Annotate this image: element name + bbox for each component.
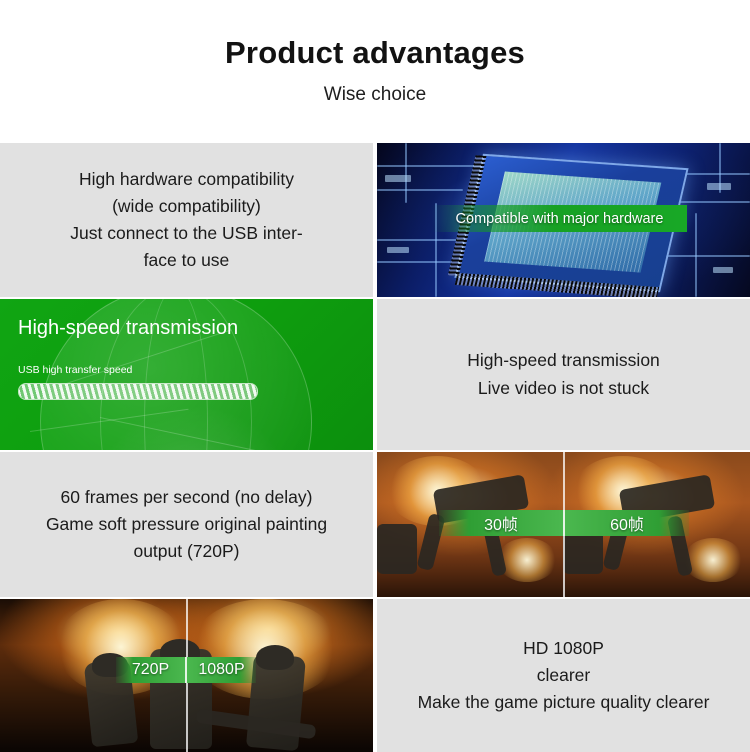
- fps-comparison-photo: 30帧 60帧: [377, 452, 750, 597]
- text-line: Game soft pressure original painting: [46, 514, 327, 534]
- resolution-label-bar: 720P 1080P: [116, 657, 256, 683]
- circuit-trace: [677, 201, 750, 203]
- text-line: High-speed transmission: [467, 350, 660, 370]
- circuit-pad: [713, 267, 733, 273]
- product-advantages-infographic: Product advantages Wise choice High hard…: [0, 0, 750, 750]
- text-line: (wide compatibility): [112, 196, 261, 216]
- progress-chevrons: [19, 384, 257, 399]
- soldier-helmet: [256, 645, 294, 670]
- speed-panel-title: High-speed transmission: [18, 317, 373, 340]
- text-line: Make the game picture quality clearer: [418, 692, 710, 712]
- text-line: clearer: [537, 665, 591, 685]
- page-header: Product advantages Wise choice: [0, 0, 750, 143]
- text-line: HD 1080P: [523, 638, 604, 658]
- transfer-speed-progress-bar: [18, 383, 258, 400]
- compatible-overlay-label: Compatible with major hardware: [432, 205, 687, 232]
- feature-row-resolution: 720P 1080P HD 1080P clearer Make the gam…: [0, 599, 750, 752]
- feature-row-frame-rate: 60 frames per second (no delay) Game sof…: [0, 452, 750, 597]
- hardware-compatibility-text-panel: High hardware compatibility (wide compat…: [0, 143, 373, 297]
- circuit-trace: [405, 143, 407, 203]
- page-subtitle: Wise choice: [324, 84, 426, 106]
- soldier-silhouette: [377, 524, 417, 574]
- text-line: output (720P): [133, 541, 239, 561]
- circuit-trace: [377, 189, 463, 191]
- text-line: face to use: [144, 250, 230, 270]
- frame-rate-text-panel: 60 frames per second (no delay) Game sof…: [0, 452, 373, 597]
- resolution-label-left: 720P: [116, 661, 185, 679]
- resolution-text-panel: HD 1080P clearer Make the game picture q…: [377, 599, 750, 752]
- text-line: 60 frames per second (no delay): [61, 487, 313, 507]
- feature-row-high-speed-transmission: High-speed transmission USB high transfe…: [0, 299, 750, 450]
- resolution-text: HD 1080P clearer Make the game picture q…: [418, 635, 710, 716]
- resolution-comparison-photo: 720P 1080P: [0, 599, 373, 752]
- high-speed-transmission-text: High-speed transmission Live video is no…: [467, 347, 660, 401]
- circuit-trace: [377, 261, 451, 263]
- circuit-pad: [387, 247, 409, 253]
- fps-label-bar: 30帧 60帧: [439, 510, 689, 536]
- circuit-trace: [663, 255, 750, 257]
- compatible-overlay-text: Compatible with major hardware: [456, 211, 664, 227]
- fps-label-left: 30帧: [439, 511, 563, 535]
- circuit-pad: [385, 175, 411, 182]
- resolution-label-right: 1080P: [187, 661, 256, 679]
- explosion-spark: [683, 538, 743, 582]
- fps-label-right: 60帧: [565, 511, 689, 535]
- circuit-board-photo: Compatible with major hardware: [377, 143, 750, 297]
- chip-pins-bottom: [455, 273, 659, 297]
- speed-panel-caption: USB high transfer speed: [18, 364, 373, 376]
- text-line: Just connect to the USB inter-: [70, 223, 302, 243]
- feature-row-hardware-compatibility: High hardware compatibility (wide compat…: [0, 143, 750, 297]
- frame-rate-text: 60 frames per second (no delay) Game sof…: [46, 484, 327, 565]
- hardware-compatibility-text: High hardware compatibility (wide compat…: [70, 166, 302, 275]
- circuit-pad: [707, 183, 731, 190]
- page-title: Product advantages: [225, 36, 525, 70]
- text-line: Live video is not stuck: [478, 378, 649, 398]
- text-line: High hardware compatibility: [79, 169, 294, 189]
- usb-speed-panel: High-speed transmission USB high transfe…: [0, 299, 373, 450]
- circuit-trace: [695, 213, 697, 297]
- high-speed-transmission-text-panel: High-speed transmission Live video is no…: [377, 299, 750, 450]
- explosion-spark: [497, 538, 557, 582]
